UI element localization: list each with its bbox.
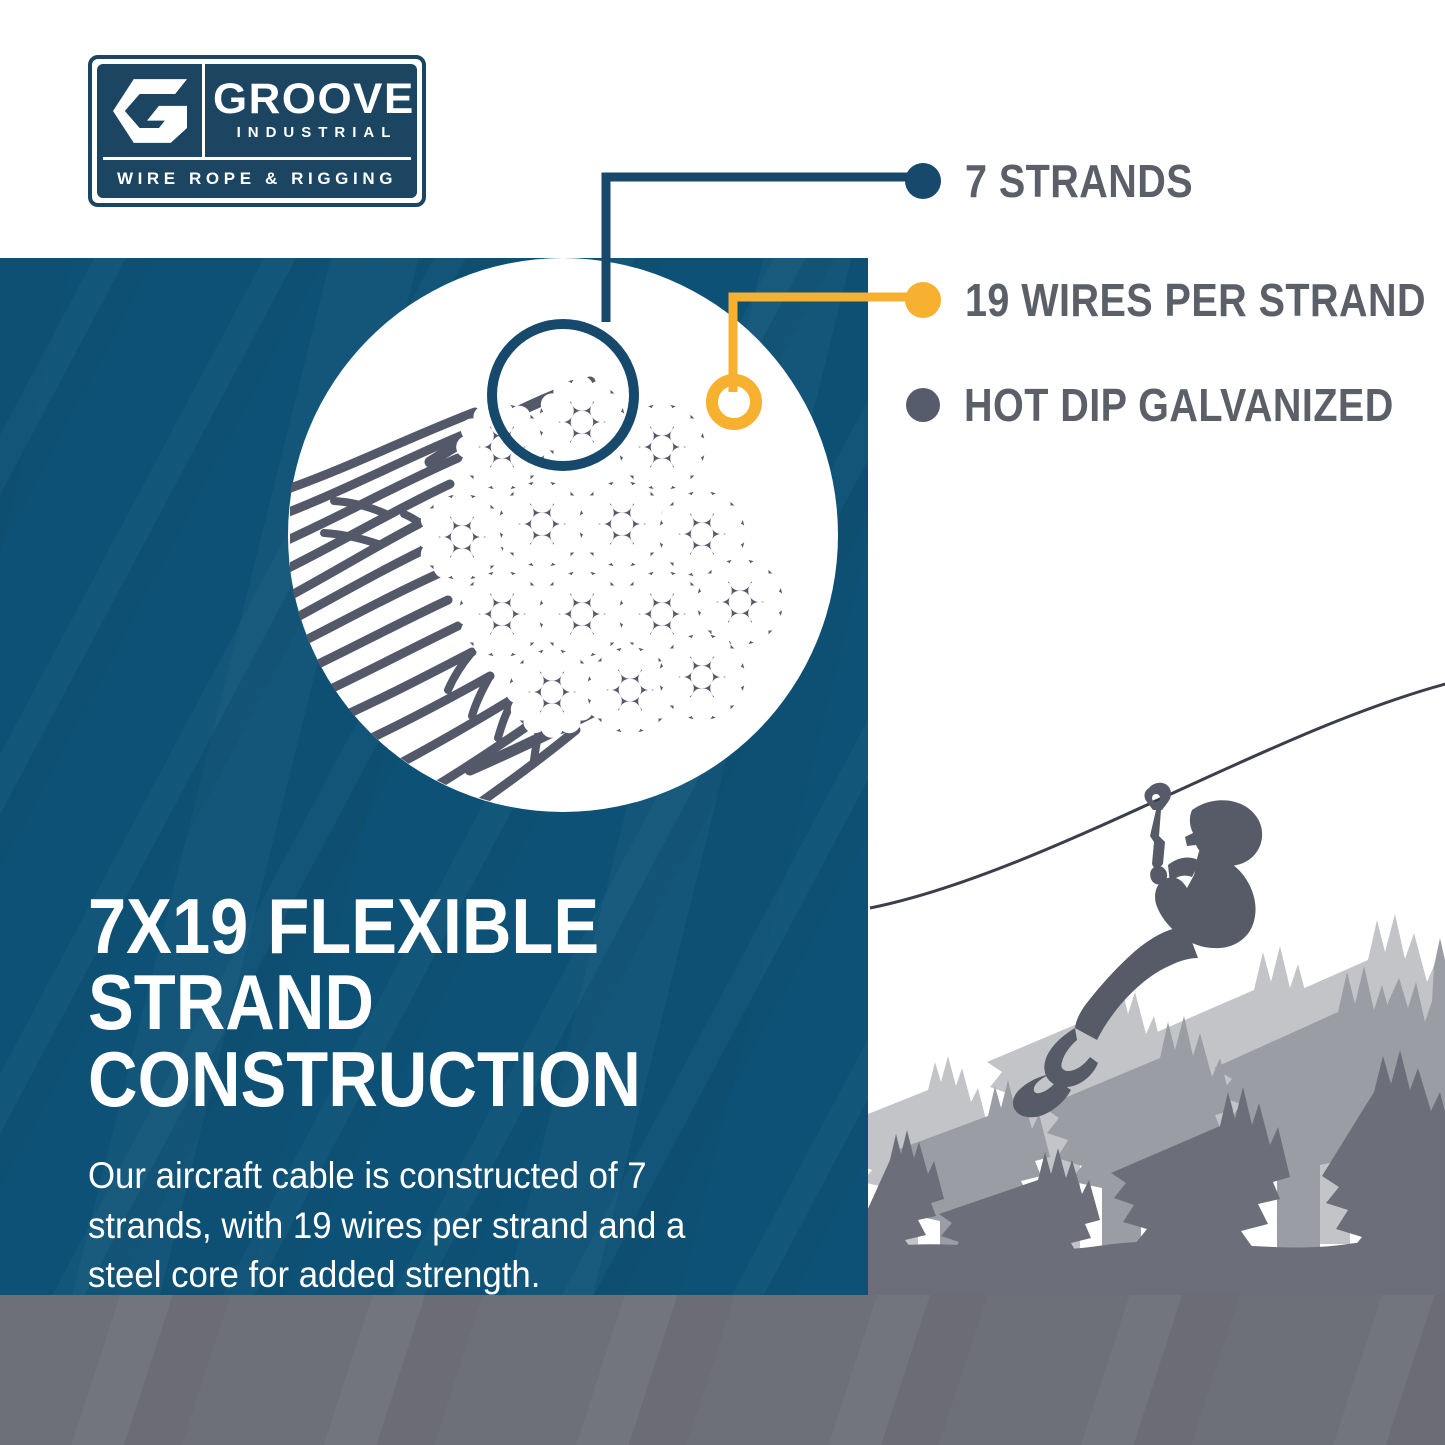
logo-wordmark: GROOVE INDUSTRIAL [205,64,417,157]
headline-block: 7X19 FLEXIBLE STRAND CONSTRUCTION Our ai… [88,888,848,1299]
logo-border: GROOVE INDUSTRIAL WIRE ROPE & RIGGING [88,55,426,207]
callout-dot-strands [905,163,941,199]
logo-brand-name: GROOVE [213,80,415,120]
page-title: 7X19 FLEXIBLE STRAND CONSTRUCTION [88,888,757,1117]
logo-plate: GROOVE INDUSTRIAL WIRE ROPE & RIGGING [97,64,417,198]
headline-line-2: STRAND CONSTRUCTION [88,964,757,1117]
callout-label-galvanized: HOT DIP GALVANIZED [964,382,1394,428]
callout-wires-per-strand[interactable]: 19 WIRES PER STRAND [905,277,1445,323]
logo-mark-cell [97,64,205,157]
logo-tagline: WIRE ROPE & RIGGING [117,169,397,189]
logo-upper-row: GROOVE INDUSTRIAL [97,64,417,157]
gray-band-stripe-texture [0,1295,1445,1445]
callout-strands[interactable]: 7 STRANDS [905,158,1230,204]
groove-g-hexagon-icon [113,79,187,143]
zipline-photo [868,660,1445,1295]
body-paragraph: Our aircraft cable is constructed of 7 s… [88,1151,765,1299]
bottom-gray-band [0,1295,1445,1445]
zipline-scene [868,660,1445,1295]
connector-line-wires [733,297,912,392]
callout-label-wires: 19 WIRES PER STRAND [965,277,1426,323]
logo-brand-subtitle: INDUSTRIAL [231,124,398,141]
callout-hot-dip-galvanized[interactable]: HOT DIP GALVANIZED [905,382,1445,428]
infographic-canvas: 7 STRANDS 19 WIRES PER STRAND HOT DIP GA… [0,0,1445,1445]
logo-tagline-row: WIRE ROPE & RIGGING [97,160,417,198]
brand-logo[interactable]: GROOVE INDUSTRIAL WIRE ROPE & RIGGING [88,55,426,207]
headline-line-1: 7X19 FLEXIBLE [88,882,599,970]
callout-dot-wires [905,282,941,318]
callout-label-strands: 7 STRANDS [965,158,1193,204]
callout-dot-galvanized [906,388,940,422]
